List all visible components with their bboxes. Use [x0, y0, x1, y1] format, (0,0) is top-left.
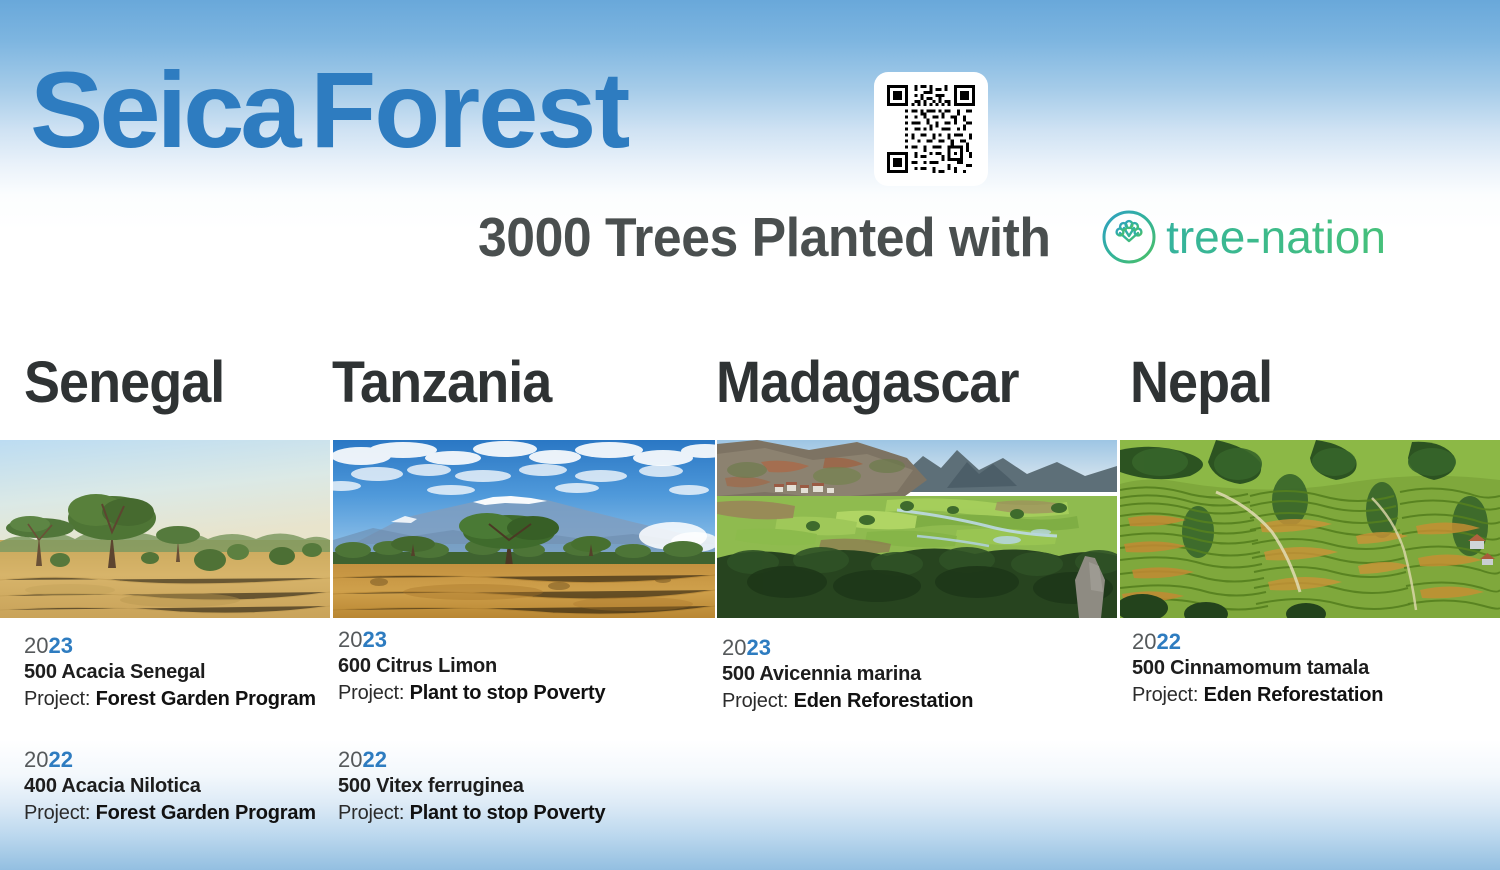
year-prefix: 20 [24, 747, 48, 772]
planting-entries: 2023 500 Acacia Senegal Project: Forest … [0, 0, 1500, 870]
entry-senegal-2022: 2022 400 Acacia Nilotica Project: Forest… [24, 746, 316, 827]
project-label: Project: [722, 690, 794, 712]
entry-year: 2023 [722, 634, 973, 661]
project-name: Eden Reforestation [1204, 684, 1384, 706]
year-suffix: 23 [362, 627, 386, 652]
year-suffix: 22 [1156, 629, 1180, 654]
project-label: Project: [338, 682, 410, 704]
entry-senegal-2023: 2023 500 Acacia Senegal Project: Forest … [24, 632, 316, 713]
entry-year: 2022 [1132, 628, 1383, 655]
year-prefix: 20 [338, 627, 362, 652]
entry-project: Project: Eden Reforestation [1132, 682, 1383, 709]
entry-project: Project: Forest Garden Program [24, 686, 316, 713]
year-suffix: 23 [48, 633, 72, 658]
entry-species: 500 Cinnamomum tamala [1132, 655, 1383, 682]
project-name: Forest Garden Program [96, 688, 316, 710]
year-prefix: 20 [1132, 629, 1156, 654]
entry-species: 500 Avicennia marina [722, 661, 973, 688]
project-name: Eden Reforestation [794, 690, 974, 712]
project-label: Project: [338, 802, 410, 824]
project-label: Project: [24, 688, 96, 710]
project-label: Project: [24, 802, 96, 824]
project-name: Forest Garden Program [96, 802, 316, 824]
entry-tanzania-2023: 2023 600 Citrus Limon Project: Plant to … [338, 626, 605, 707]
entry-project: Project: Plant to stop Poverty [338, 680, 605, 707]
entry-year: 2023 [338, 626, 605, 653]
entry-year: 2022 [338, 746, 605, 773]
project-label: Project: [1132, 684, 1204, 706]
entry-nepal-2022: 2022 500 Cinnamomum tamala Project: Eden… [1132, 628, 1383, 709]
entry-project: Project: Eden Reforestation [722, 688, 973, 715]
year-suffix: 22 [48, 747, 72, 772]
project-name: Plant to stop Poverty [410, 802, 606, 824]
entry-species: 500 Acacia Senegal [24, 659, 316, 686]
seica-forest-poster: SeicaForest [0, 0, 1500, 870]
entry-tanzania-2022: 2022 500 Vitex ferruginea Project: Plant… [338, 746, 605, 827]
year-prefix: 20 [338, 747, 362, 772]
entry-year: 2022 [24, 746, 316, 773]
year-prefix: 20 [24, 633, 48, 658]
entry-species: 500 Vitex ferruginea [338, 773, 605, 800]
entry-species: 600 Citrus Limon [338, 653, 605, 680]
entry-project: Project: Forest Garden Program [24, 800, 316, 827]
year-prefix: 20 [722, 635, 746, 660]
entry-madagascar-2023: 2023 500 Avicennia marina Project: Eden … [722, 634, 973, 715]
entry-project: Project: Plant to stop Poverty [338, 800, 605, 827]
project-name: Plant to stop Poverty [410, 682, 606, 704]
year-suffix: 22 [362, 747, 386, 772]
entry-year: 2023 [24, 632, 316, 659]
entry-species: 400 Acacia Nilotica [24, 773, 316, 800]
year-suffix: 23 [746, 635, 770, 660]
